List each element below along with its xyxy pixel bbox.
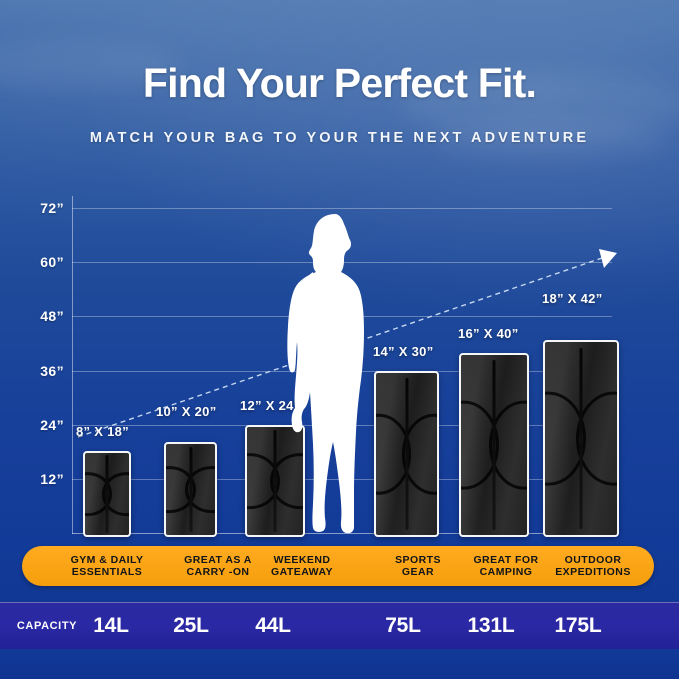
use-case-line2: EXPEDITIONS [555,566,631,579]
use-case-cell-6[interactable]: OUTDOOR EXPEDITIONS [532,546,654,586]
capacity-value-1: 14L [76,603,146,649]
y-tick-48: 48” [18,308,64,324]
infographic-canvas: Find Your Perfect Fit. MATCH YOUR BAG TO… [0,0,679,679]
bag-bar-5[interactable] [459,353,529,537]
bag-size-label-2: 10” X 20” [156,404,217,419]
bag-size-label-1: 8” X 18” [76,424,129,439]
capacity-value-2: 25L [156,603,226,649]
use-case-line2: GATEAWAY [271,566,333,579]
bag-zipper [106,455,109,532]
bag-arc-right [576,391,619,486]
capacity-value-6: 175L [537,603,619,649]
bag-zipper [189,447,192,533]
use-case-line2: CARRY -ON [187,566,250,579]
bag-zipper [274,430,277,532]
use-case-line2: CAMPING [480,566,533,579]
use-case-line1: GREAT AS A [184,554,252,567]
human-silhouette-icon [283,212,391,534]
use-case-line2: ESSENTIALS [72,566,142,579]
bag-zipper [580,348,583,529]
use-case-line1: OUTDOOR [565,554,622,567]
use-case-cell-1[interactable]: GYM & DAILY ESSENTIALS [46,546,168,586]
use-case-pill: GYM & DAILY ESSENTIALS GREAT AS A CARRY … [22,546,654,586]
bag-size-label-6: 18” X 42” [542,291,603,306]
capacity-value-4: 75L [368,603,438,649]
y-tick-24: 24” [18,417,64,433]
use-case-cell-3[interactable]: WEEKEND GATEAWAY [244,546,360,586]
capacity-label: CAPACITY [8,603,86,649]
capacity-band: CAPACITY 14L 25L 44L 75L 131L 175L [0,602,679,650]
bag-bar-1[interactable] [83,451,131,537]
y-tick-36: 36” [18,363,64,379]
bag-size-label-5: 16” X 40” [458,326,519,341]
use-case-line1: WEEKEND [274,554,331,567]
gridline-72 [72,208,612,209]
bag-bar-6[interactable] [543,340,619,537]
bag-zipper [493,360,496,529]
use-case-line2: GEAR [402,566,434,579]
use-case-line1: GREAT FOR [473,554,538,567]
y-tick-72: 72” [18,200,64,216]
bag-bar-2[interactable] [164,442,217,537]
y-tick-12: 12” [18,471,64,487]
use-case-line1: SPORTS [395,554,441,567]
capacity-value-5: 131L [452,603,530,649]
footer-bar [0,649,679,679]
y-axis-line [72,196,73,534]
capacity-value-3: 44L [238,603,308,649]
y-tick-60: 60” [18,254,64,270]
bag-zipper [405,378,408,530]
use-case-line1: GYM & DAILY [71,554,144,567]
